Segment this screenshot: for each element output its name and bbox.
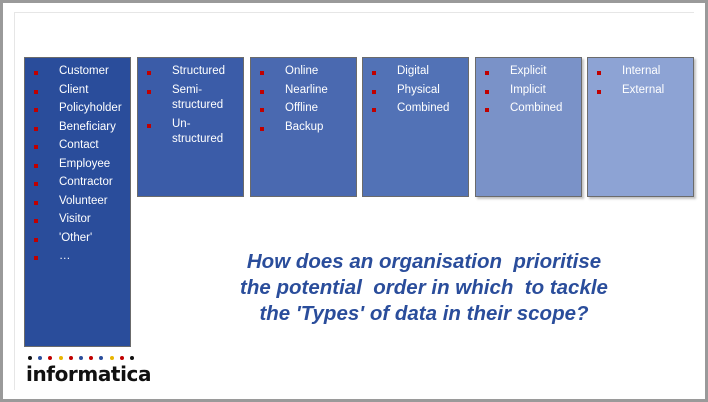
list-item-label: Volunteer [59, 194, 108, 210]
logo-dot [59, 356, 63, 360]
slide-inner-guide-top [14, 12, 694, 13]
bullet-square-icon [34, 108, 38, 112]
category-box-origin[interactable]: InternalExternal [587, 57, 694, 197]
list-item-label: Backup [285, 120, 323, 136]
bullet-square-icon [260, 127, 264, 131]
bullet-square-icon [34, 127, 38, 131]
list-item-label: Structured [172, 64, 225, 80]
bullet-square-icon [34, 71, 38, 75]
logo-dot [38, 356, 42, 360]
question-text: How does an organisation prioritisethe p… [176, 249, 672, 327]
slide-inner-guide-left [14, 12, 15, 390]
list-item-label: Implicit [510, 83, 546, 99]
list-item-label: Offline [285, 101, 318, 117]
question-line: How does an organisation prioritise [176, 249, 672, 275]
list-item-label: Customer [59, 64, 109, 80]
slide-border-top [0, 0, 708, 3]
list-item: Contact [25, 138, 130, 154]
list-item: 'Other' [25, 231, 130, 247]
list-item-label: Employee [59, 157, 110, 173]
list-item-label: Un- structured [172, 117, 223, 148]
list-item-label: Nearline [285, 83, 328, 99]
logo-dot [110, 356, 114, 360]
bullet-square-icon [34, 145, 38, 149]
slide-canvas: CustomerClientPolicyholderBeneficiaryCon… [0, 0, 708, 402]
question-line: the potential order in which to tackle [176, 275, 672, 301]
slide-border-left [0, 0, 3, 402]
list-item: Contractor [25, 175, 130, 191]
bullet-square-icon [485, 108, 489, 112]
list-item-label: Semi- structured [172, 83, 223, 114]
category-box-expression[interactable]: ExplicitImplicitCombined [475, 57, 582, 197]
logo-dot [99, 356, 103, 360]
list-item: Structured [138, 64, 243, 80]
list-item-label: Beneficiary [59, 120, 116, 136]
list-item-label: Physical [397, 83, 440, 99]
bullet-square-icon [34, 90, 38, 94]
question-line: the 'Types' of data in their scope? [176, 301, 672, 327]
list-item: Un- structured [138, 117, 243, 148]
list-item-label: Client [59, 83, 88, 99]
list-item: Implicit [476, 83, 581, 99]
list-item-label: Combined [397, 101, 449, 117]
list-item: Backup [251, 120, 356, 136]
list-item-label: Digital [397, 64, 429, 80]
logo-dot [69, 356, 73, 360]
list-item: Beneficiary [25, 120, 130, 136]
list-item-label: … [59, 249, 71, 265]
logo-wordmark: informatica [26, 363, 158, 385]
list-item-label: Visitor [59, 212, 91, 228]
bullet-square-icon [260, 108, 264, 112]
informatica-logo: informatica [26, 356, 158, 385]
list-item: Explicit [476, 64, 581, 80]
logo-dot [130, 356, 134, 360]
list-item-label: 'Other' [59, 231, 92, 247]
logo-dot [120, 356, 124, 360]
bullet-square-icon [485, 71, 489, 75]
list-item: Offline [251, 101, 356, 117]
list-item-label: Online [285, 64, 318, 80]
bullet-square-icon [34, 201, 38, 205]
list-item: Digital [363, 64, 468, 80]
bullet-square-icon [597, 71, 601, 75]
category-box-parties[interactable]: CustomerClientPolicyholderBeneficiaryCon… [24, 57, 131, 347]
list-item-label: External [622, 83, 664, 99]
bullet-square-icon [147, 71, 151, 75]
list-item: Visitor [25, 212, 130, 228]
list-item: Physical [363, 83, 468, 99]
bullet-square-icon [597, 90, 601, 94]
bullet-square-icon [34, 219, 38, 223]
list-item: Customer [25, 64, 130, 80]
list-item: Online [251, 64, 356, 80]
list-item: Nearline [251, 83, 356, 99]
list-item-label: Policyholder [59, 101, 122, 117]
list-item-label: Internal [622, 64, 660, 80]
list-item: Semi- structured [138, 83, 243, 114]
bullet-square-icon [372, 108, 376, 112]
list-item-label: Combined [510, 101, 562, 117]
category-box-medium[interactable]: DigitalPhysicalCombined [362, 57, 469, 197]
list-item: Client [25, 83, 130, 99]
bullet-square-icon [34, 182, 38, 186]
logo-dot [79, 356, 83, 360]
category-box-structure[interactable]: StructuredSemi- structuredUn- structured [137, 57, 244, 197]
bullet-square-icon [147, 124, 151, 128]
bullet-square-icon [260, 90, 264, 94]
bullet-square-icon [34, 238, 38, 242]
list-item-label: Contractor [59, 175, 113, 191]
list-item: Combined [476, 101, 581, 117]
bullet-square-icon [34, 164, 38, 168]
bullet-square-icon [372, 71, 376, 75]
list-item: Volunteer [25, 194, 130, 210]
logo-dots [28, 356, 158, 360]
list-item: Internal [588, 64, 693, 80]
list-item-label: Contact [59, 138, 99, 154]
list-item: … [25, 249, 130, 265]
bullet-square-icon [485, 90, 489, 94]
bullet-square-icon [147, 90, 151, 94]
list-item: External [588, 83, 693, 99]
category-box-availability[interactable]: OnlineNearlineOfflineBackup [250, 57, 357, 197]
bullet-square-icon [34, 256, 38, 260]
list-item: Combined [363, 101, 468, 117]
list-item-label: Explicit [510, 64, 546, 80]
list-item: Policyholder [25, 101, 130, 117]
list-item: Employee [25, 157, 130, 173]
logo-dot [48, 356, 52, 360]
bullet-square-icon [260, 71, 264, 75]
bullet-square-icon [372, 90, 376, 94]
logo-dot [89, 356, 93, 360]
logo-dot [28, 356, 32, 360]
